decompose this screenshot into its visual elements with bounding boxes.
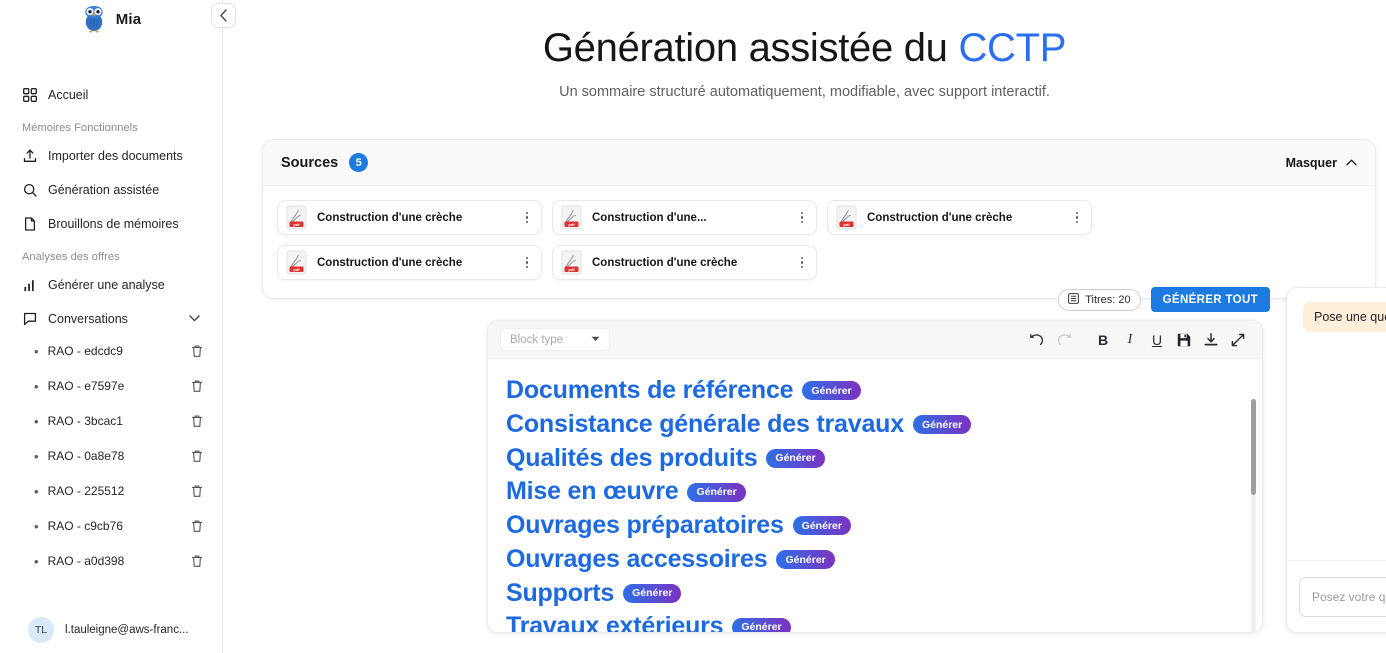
block-type-label: Block type [510,334,563,346]
sidebar-section-memoires-label: Mémoires Fonctionnels [0,122,222,134]
source-card[interactable]: pdf Construction d'une crèche [277,200,542,235]
delete-icon[interactable] [190,344,204,358]
generate-button[interactable]: Générer [802,381,860,400]
heading-row: Consistance générale des travaux Générer [506,409,1228,441]
sidebar-item-generer-analyse[interactable]: Générer une analyse [0,272,222,298]
heading-title[interactable]: Ouvrages accessoires [506,544,767,576]
sidebar-item-label: Accueil [48,88,88,102]
sidebar-nav: Accueil Mémoires Fonctionnels Importer d… [0,82,222,583]
page-title: Génération assistée du CCTP [223,26,1386,71]
main-content: Génération assistée du CCTP Un sommaire … [223,0,1386,653]
bullet-icon: • [34,485,39,498]
bold-icon[interactable]: B [1091,328,1115,352]
underline-icon[interactable]: U [1145,328,1169,352]
heading-row: Ouvrages préparatoires Générer [506,510,1228,542]
list-item[interactable]: • RAO - e7597e [0,373,222,399]
page-title-main: Génération assistée du [543,26,959,70]
heading-title[interactable]: Travaux extérieurs [506,611,723,633]
source-name: Construction d'une... [592,212,795,224]
svg-text:pdf: pdf [293,267,300,272]
conversation-list: • RAO - edcdc9 • RAO - e7597e • RAO - 3b… [0,338,222,583]
sidebar-item-label: Générer une analyse [48,278,165,292]
generate-button[interactable]: Générer [732,618,790,633]
delete-icon[interactable] [190,449,204,463]
conversation-label: RAO - e7597e [48,379,190,393]
titres-count-chip[interactable]: Titres: 20 [1058,289,1140,311]
sidebar-collapse-button[interactable] [211,3,236,28]
page-title-accent: CCTP [958,26,1066,70]
delete-icon[interactable] [190,554,204,568]
grid-icon [22,88,37,103]
chevron-down-icon [591,335,600,344]
source-card[interactable]: pdf Construction d'une crèche [552,245,817,280]
heading-row: Ouvrages accessoires Générer [506,544,1228,576]
source-card[interactable]: pdf Construction d'une crèche [277,245,542,280]
bullet-icon: • [34,520,39,533]
heading-row: Qualités des produits Générer [506,443,1228,475]
sources-count-badge: 5 [349,153,368,172]
owl-logo-icon [81,5,107,33]
heading-title[interactable]: Ouvrages préparatoires [506,510,784,542]
titres-count-label: Titres: 20 [1085,294,1130,306]
list-item[interactable]: • RAO - c9cb76 [0,513,222,539]
list-item[interactable]: • RAO - 3bcac1 [0,408,222,434]
delete-icon[interactable] [190,379,204,393]
generate-button[interactable]: Générer [793,516,851,535]
bullet-icon: • [34,345,39,358]
svg-text:pdf: pdf [293,222,300,227]
save-icon[interactable] [1172,328,1196,352]
download-icon[interactable] [1199,328,1223,352]
sidebar-item-brouillons-memoires[interactable]: Brouillons de mémoires [0,211,222,237]
heading-row: Mise en œuvre Générer [506,476,1228,508]
chat-icon [22,312,37,327]
generate-button[interactable]: Générer [766,449,824,468]
bar-chart-icon [22,278,37,293]
chat-panel: Pose une question à MIA [1286,287,1386,633]
heading-title[interactable]: Qualités des produits [506,443,757,475]
chat-message-list: Pose une question à MIA [1287,288,1386,560]
generate-button[interactable]: Générer [687,483,745,502]
user-account-row[interactable]: TL l.tauleigne@aws-franc... [0,617,222,643]
sidebar-item-generation-assistee[interactable]: Génération assistée [0,177,222,203]
conversation-label: RAO - 3bcac1 [48,414,190,428]
conversation-label: RAO - c9cb76 [48,519,190,533]
source-card[interactable]: pdf Construction d'une... [552,200,817,235]
brand: Mia [0,2,222,36]
bullet-icon: • [34,555,39,568]
sidebar: Mia Accueil Mémoires Fonctionnels [0,0,223,653]
source-name: Construction d'une crèche [867,212,1070,224]
sidebar-item-accueil[interactable]: Accueil [0,82,222,108]
source-menu-icon[interactable] [520,254,534,272]
sidebar-item-label: Importer des documents [48,149,183,163]
heading-row: Supports Générer [506,578,1228,610]
expand-icon[interactable] [1226,328,1250,352]
source-name: Construction d'une crèche [592,257,795,269]
heading-title[interactable]: Supports [506,578,614,610]
list-item[interactable]: • RAO - 0a8e78 [0,443,222,469]
app-root: Mia Accueil Mémoires Fonctionnels [0,0,1386,653]
pdf-icon: pdf [560,205,583,230]
source-menu-icon[interactable] [520,209,534,227]
sources-toggle-label: Masquer [1286,156,1337,170]
generate-button[interactable]: Générer [623,584,681,603]
bullet-icon: • [34,450,39,463]
heading-row: Documents de référence Générer [506,375,1228,407]
chevron-up-icon [1346,157,1357,169]
source-card[interactable]: pdf Construction d'une crèche [827,200,1092,235]
heading-title[interactable]: Mise en œuvre [506,476,678,508]
conversation-label: RAO - 225512 [48,484,190,498]
sidebar-item-conversations[interactable]: Conversations [0,306,222,332]
pdf-icon: pdf [285,250,308,275]
actions-row: Titres: 20 GÉNÉRER TOUT [1058,287,1270,312]
sources-panel: Sources 5 Masquer pdf [262,139,1376,299]
heading-row: Travaux extérieurs Générer [506,611,1228,633]
sidebar-item-label: Conversations [48,312,128,326]
conversation-label: RAO - 0a8e78 [48,449,190,463]
chat-input[interactable] [1299,577,1386,617]
chat-input-row [1287,560,1386,632]
editor-toolbar-actions: B I U [1025,328,1250,352]
italic-icon[interactable]: I [1118,328,1142,352]
block-type-select[interactable]: Block type [500,328,610,351]
sidebar-item-label: Génération assistée [48,183,159,197]
bullet-icon: • [34,415,39,428]
conversation-label: RAO - edcdc9 [48,344,190,358]
editor-content[interactable]: Documents de référence Générer Consistan… [488,359,1262,633]
user-email: l.tauleigne@aws-franc... [65,624,189,636]
pdf-icon: pdf [560,250,583,275]
sidebar-section-analyses-label: Analyses des offres [0,251,222,263]
undo-icon[interactable] [1025,328,1049,352]
pdf-icon: pdf [835,205,858,230]
avatar: TL [28,617,54,643]
source-menu-icon[interactable] [1070,209,1084,227]
page-subtitle: Un sommaire structuré automatiquement, m… [223,84,1386,100]
sidebar-item-label: Brouillons de mémoires [48,217,179,231]
heading-title[interactable]: Consistance générale des travaux [506,409,904,441]
sources-header: Sources 5 Masquer [263,140,1375,186]
delete-icon[interactable] [190,484,204,498]
list-item[interactable]: • RAO - edcdc9 [0,338,222,364]
sidebar-item-importer-documents[interactable]: Importer des documents [0,143,222,169]
list-icon [1068,293,1079,307]
conversation-label: RAO - a0d398 [48,554,190,568]
generate-button[interactable]: Générer [776,550,834,569]
chevron-down-icon [189,313,200,325]
sources-toggle-button[interactable]: Masquer [1286,156,1357,170]
list-item[interactable]: • RAO - a0d398 [0,548,222,574]
editor-toolbar: Block type B I U [488,321,1262,359]
bullet-icon: • [34,380,39,393]
redo-icon[interactable] [1052,328,1076,352]
svg-text:pdf: pdf [568,222,575,227]
source-name: Construction d'une crèche [317,257,520,269]
delete-icon[interactable] [190,519,204,533]
svg-text:pdf: pdf [568,267,575,272]
pdf-icon: pdf [285,205,308,230]
source-menu-icon[interactable] [795,254,809,272]
source-name: Construction d'une crèche [317,212,520,224]
upload-icon [22,149,37,164]
sources-list: pdf Construction d'une crèche pdf [263,186,1375,298]
chat-greeting-message: Pose une question à MIA [1303,302,1386,332]
heading-title[interactable]: Documents de référence [506,375,793,407]
search-icon [22,183,37,198]
delete-icon[interactable] [190,414,204,428]
file-icon [22,217,37,232]
editor-scrollbar-thumb[interactable] [1251,399,1256,495]
brand-name: Mia [116,11,142,28]
svg-text:pdf: pdf [843,222,850,227]
list-item[interactable]: • RAO - 225512 [0,478,222,504]
editor-panel: Block type B I U [487,320,1263,633]
sources-title: Sources [281,155,338,171]
source-menu-icon[interactable] [795,209,809,227]
generate-button[interactable]: Générer [913,415,971,434]
generate-all-button[interactable]: GÉNÉRER TOUT [1151,287,1270,312]
